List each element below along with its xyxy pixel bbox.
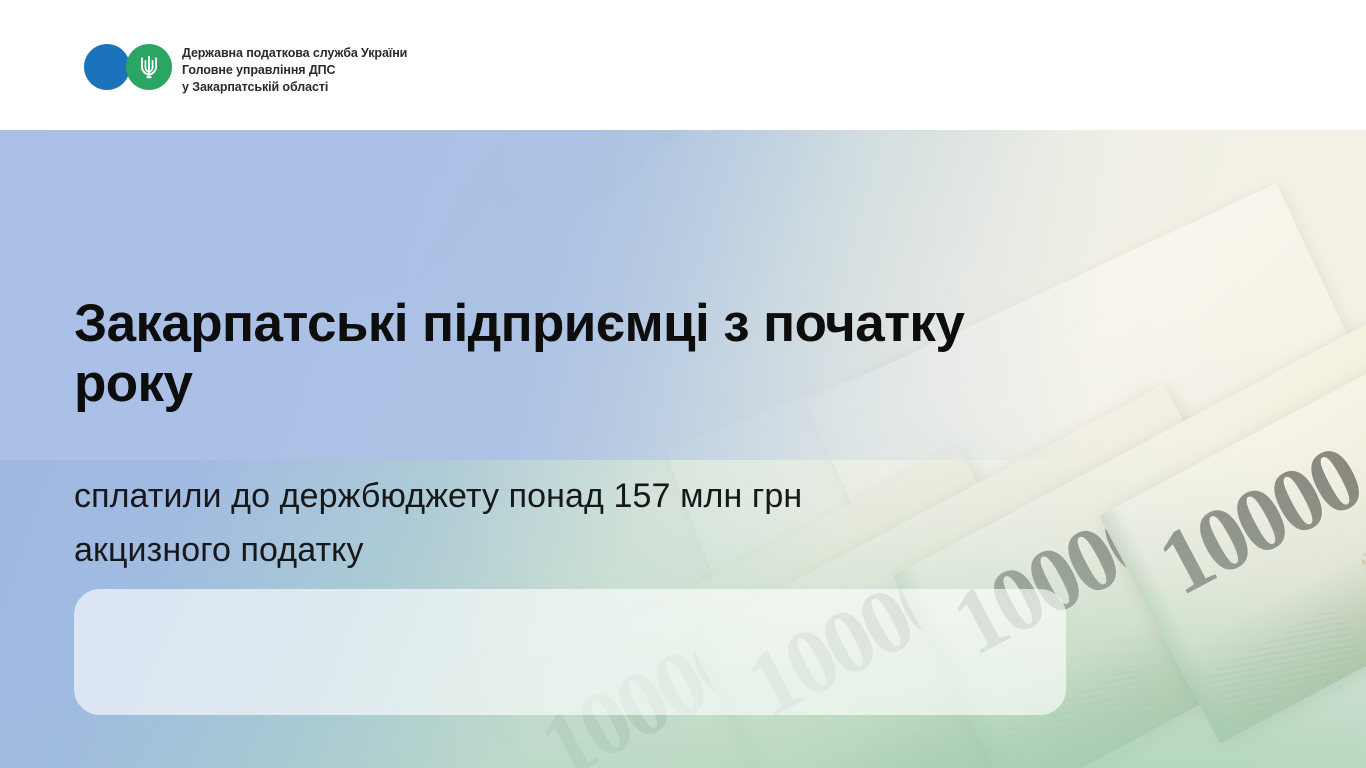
hero-banner: 円 円 10000 10000 [0, 130, 1366, 768]
logo-marks [84, 44, 172, 90]
header-bar: Державна податкова служба України Головн… [0, 0, 1366, 130]
organization-name: Державна податкова служба України Головн… [182, 44, 407, 95]
poster-page: Державна податкова служба України Головн… [0, 0, 1366, 768]
org-line-1: Державна податкова служба України [182, 45, 407, 62]
ukrainian-trident-icon [139, 54, 159, 80]
organization-logo[interactable]: Державна податкова служба України Головн… [84, 44, 407, 95]
page-title: Закарпатські підприємці з початку року [74, 294, 1254, 415]
headline-line-2: року [74, 354, 1254, 414]
org-line-3: у Закарпатській області [182, 79, 407, 96]
org-line-2: Головне управління ДПС [182, 62, 407, 79]
subtitle-line-1: сплатили до держбюджету понад 157 млн гр… [74, 477, 802, 515]
green-circle-icon [126, 44, 172, 90]
subtitle-line-2: акцизного податку [74, 524, 1114, 578]
headline-line-1: Закарпатські підприємці з початку [74, 294, 964, 353]
subtitle-backdrop [74, 589, 1066, 715]
page-subtitle: сплатили до держбюджету понад 157 млн гр… [74, 470, 1114, 577]
blue-circle-icon [84, 44, 130, 90]
